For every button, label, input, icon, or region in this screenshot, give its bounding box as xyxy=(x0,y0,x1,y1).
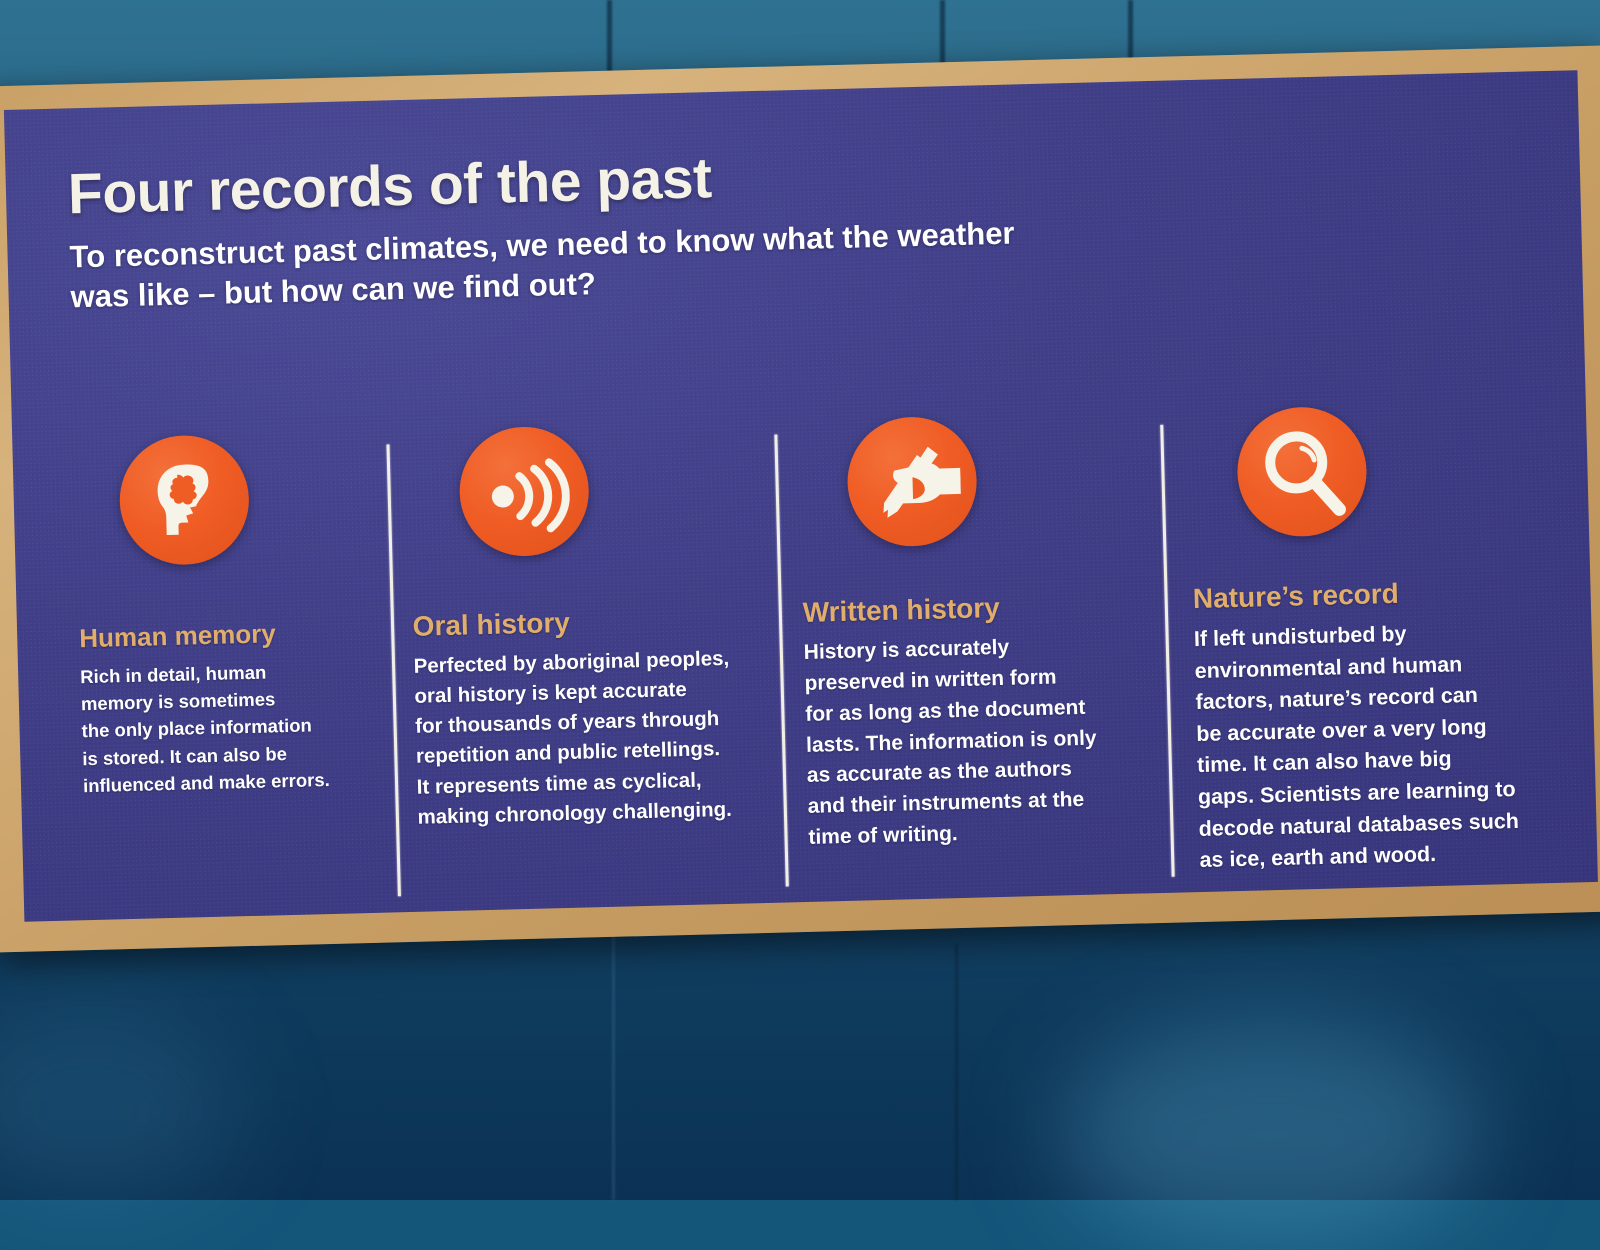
record-column-human-memory: Human memory Rich in detail, human memor… xyxy=(74,430,397,904)
column-body-text: Perfected by aboriginal peoples, oral hi… xyxy=(413,643,752,832)
record-column-oral-history: Oral history Perfected by aboriginal peo… xyxy=(386,421,782,897)
column-heading: Oral history xyxy=(412,602,747,642)
magnifying-glass-icon xyxy=(1236,406,1368,538)
wall-seam xyxy=(612,930,615,1200)
sign-subtitle: To reconstruct past climates, we need to… xyxy=(69,213,1031,317)
records-columns: Human memory Rich in detail, human memor… xyxy=(74,401,1557,905)
column-body-text: Rich in detail, human memory is sometime… xyxy=(80,656,361,799)
writing-hand-icon xyxy=(846,416,978,548)
sound-waves-icon xyxy=(458,425,590,557)
record-column-written-history: Written history History is accurately pr… xyxy=(770,411,1166,887)
column-heading: Nature’s record xyxy=(1193,574,1551,615)
column-heading: Written history xyxy=(802,589,1133,629)
sign-panel: Four records of the past To reconstruct … xyxy=(4,70,1598,922)
head-brain-icon xyxy=(118,434,250,566)
column-heading: Human memory xyxy=(79,616,357,654)
wall-seam xyxy=(955,944,958,1200)
record-column-natures-record: Nature’s record If left undisturbed by e… xyxy=(1154,401,1557,878)
exhibit-sign: Four records of the past To reconstruct … xyxy=(0,46,1600,953)
page-title: Four records of the past xyxy=(67,129,1528,223)
column-body-text: History is accurately preserved in writt… xyxy=(803,630,1139,854)
column-body-text: If left undisturbed by environmental and… xyxy=(1194,615,1558,877)
